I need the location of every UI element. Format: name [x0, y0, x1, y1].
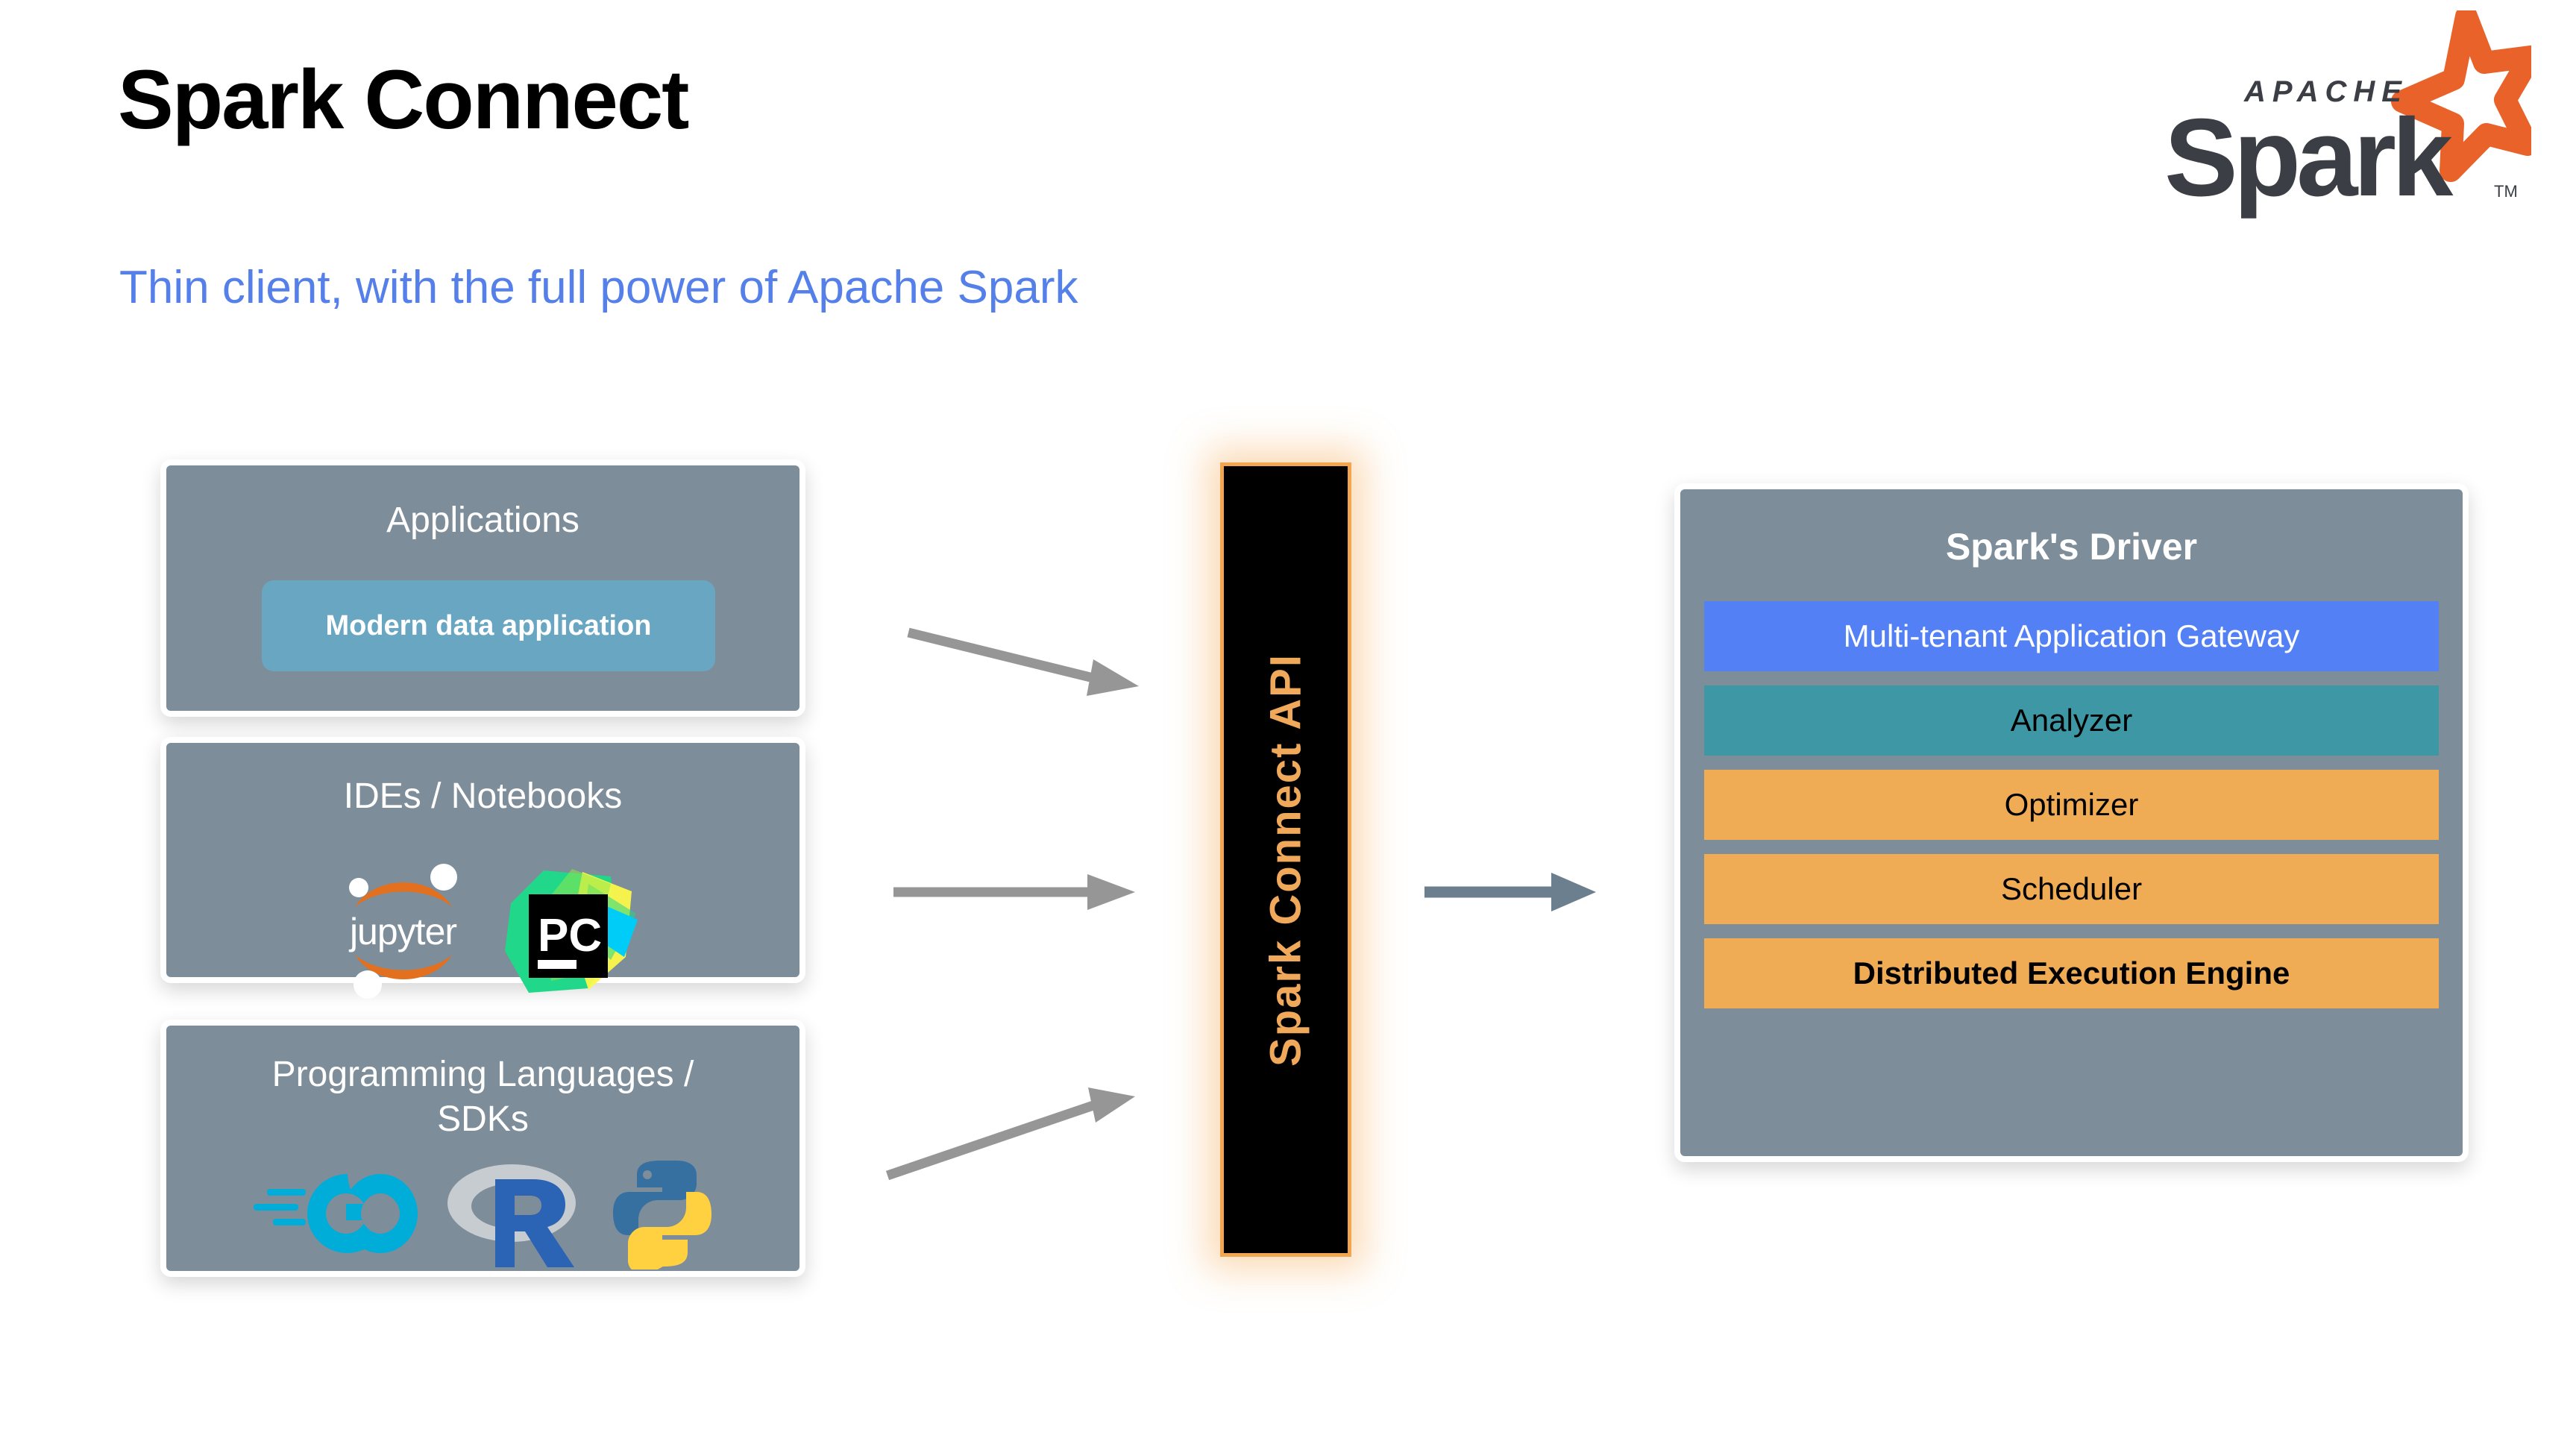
- card-title-applications: Applications: [166, 498, 799, 543]
- spark-connect-api-bar[interactable]: Spark Connect API: [1220, 462, 1351, 1257]
- slide-canvas: Spark Connect Thin client, with the full…: [0, 0, 2576, 1447]
- pycharm-pc-text: PC: [538, 910, 602, 961]
- card-title-ides: IDEs / Notebooks: [166, 774, 799, 819]
- jupyter-wordmark: jupyter: [329, 910, 478, 953]
- r-logo: [443, 1157, 585, 1270]
- card-title-languages: Programming Languages / SDKs: [166, 1052, 799, 1142]
- driver-row-analyzer[interactable]: Analyzer: [1704, 685, 2439, 756]
- logo-trademark: TM: [2494, 182, 2518, 201]
- client-card-ides-notebooks[interactable]: IDEs / Notebooks jupyter: [160, 737, 805, 983]
- python-logo: [610, 1158, 714, 1269]
- driver-component-stack: Multi-tenant Application Gateway Analyze…: [1704, 601, 2439, 1008]
- driver-row-optimizer[interactable]: Optimizer: [1704, 770, 2439, 840]
- spark-connect-api-label: Spark Connect API: [1261, 653, 1311, 1067]
- arrow-ides-to-api: [893, 874, 1135, 910]
- arrow-applications-to-api: [908, 633, 1139, 696]
- apache-spark-logo: APACHE Spark TM: [2158, 10, 2531, 219]
- modern-data-application-button[interactable]: Modern data application: [262, 580, 715, 671]
- page-title: Spark Connect: [118, 54, 688, 145]
- jupyter-logo: jupyter: [329, 856, 478, 1005]
- go-logo: [252, 1168, 418, 1259]
- language-logo-row: [166, 1157, 799, 1270]
- arrow-languages-to-api: [888, 1087, 1135, 1176]
- arrow-api-to-driver: [1424, 873, 1596, 911]
- card-title-languages-line1: Programming Languages /: [272, 1055, 694, 1094]
- card-title-languages-line2: SDKs: [437, 1099, 529, 1139]
- logo-spark-text: Spark: [2164, 96, 2454, 219]
- client-card-programming-languages[interactable]: Programming Languages / SDKs: [160, 1020, 805, 1277]
- ide-logo-row: jupyter PC: [166, 856, 799, 1005]
- pycharm-logo: PC: [499, 861, 638, 1000]
- spark-driver-panel[interactable]: Spark's Driver Multi-tenant Application …: [1674, 483, 2469, 1162]
- driver-row-gateway[interactable]: Multi-tenant Application Gateway: [1704, 601, 2439, 671]
- driver-row-scheduler[interactable]: Scheduler: [1704, 854, 2439, 924]
- client-card-applications[interactable]: Applications Modern data application: [160, 459, 805, 717]
- spark-driver-title: Spark's Driver: [1680, 525, 2463, 568]
- driver-row-execution-engine[interactable]: Distributed Execution Engine: [1704, 938, 2439, 1008]
- page-subtitle: Thin client, with the full power of Apac…: [119, 263, 1078, 313]
